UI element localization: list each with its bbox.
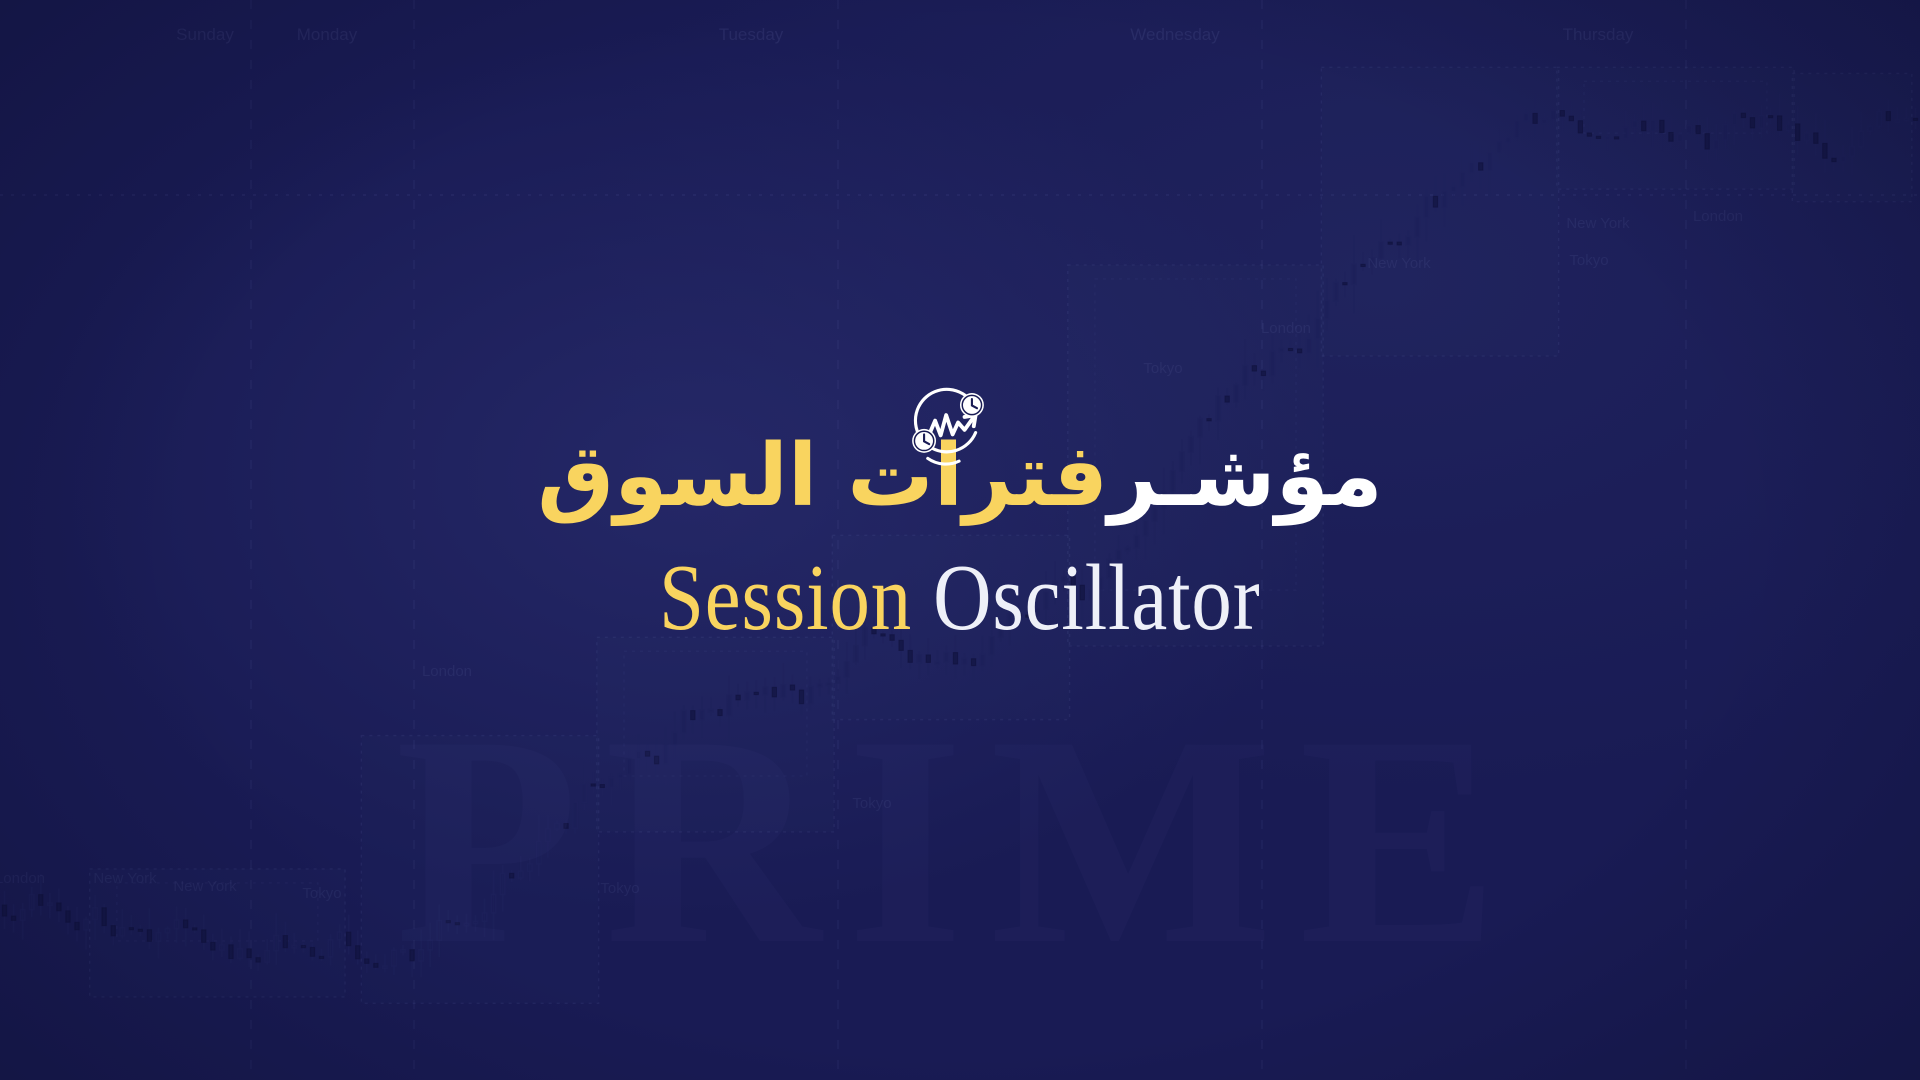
arabic-title-white: مؤشـر [1108,426,1383,526]
english-title-white: Oscillator [912,546,1260,650]
arabic-title: مؤشـرفترات السوق [537,426,1382,527]
english-title-gold: Session [659,546,912,650]
arabic-title-gold: فترات السوق [537,426,1108,526]
hero-block: مؤشـرفترات السوق Session Oscillator [0,0,1920,1080]
poster-canvas: PRIME SundayMondayTuesdayWednesdayThursd… [0,0,1920,1080]
english-title: Session Oscillator [659,549,1261,648]
